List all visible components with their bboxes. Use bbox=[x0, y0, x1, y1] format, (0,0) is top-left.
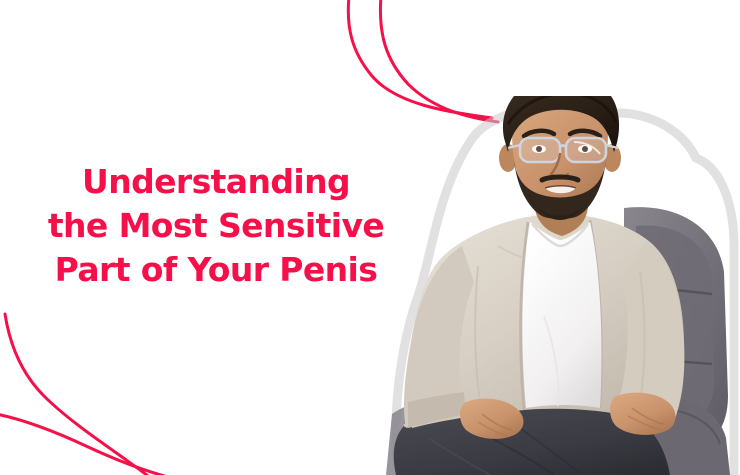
subject-illustration bbox=[378, 96, 740, 475]
headline-line-2: the Most Sensitive bbox=[18, 204, 414, 248]
headline-line-1: Understanding bbox=[18, 160, 414, 204]
swoosh-bottom-2 bbox=[0, 414, 176, 475]
headline: Understanding the Most Sensitive Part of… bbox=[18, 160, 414, 292]
article-banner: Understanding the Most Sensitive Part of… bbox=[0, 0, 740, 475]
subject-photo bbox=[378, 96, 740, 475]
tshirt bbox=[523, 222, 602, 408]
headline-line-3: Part of Your Penis bbox=[18, 248, 414, 292]
swoosh-bottom-1 bbox=[5, 314, 152, 475]
head bbox=[499, 96, 621, 220]
